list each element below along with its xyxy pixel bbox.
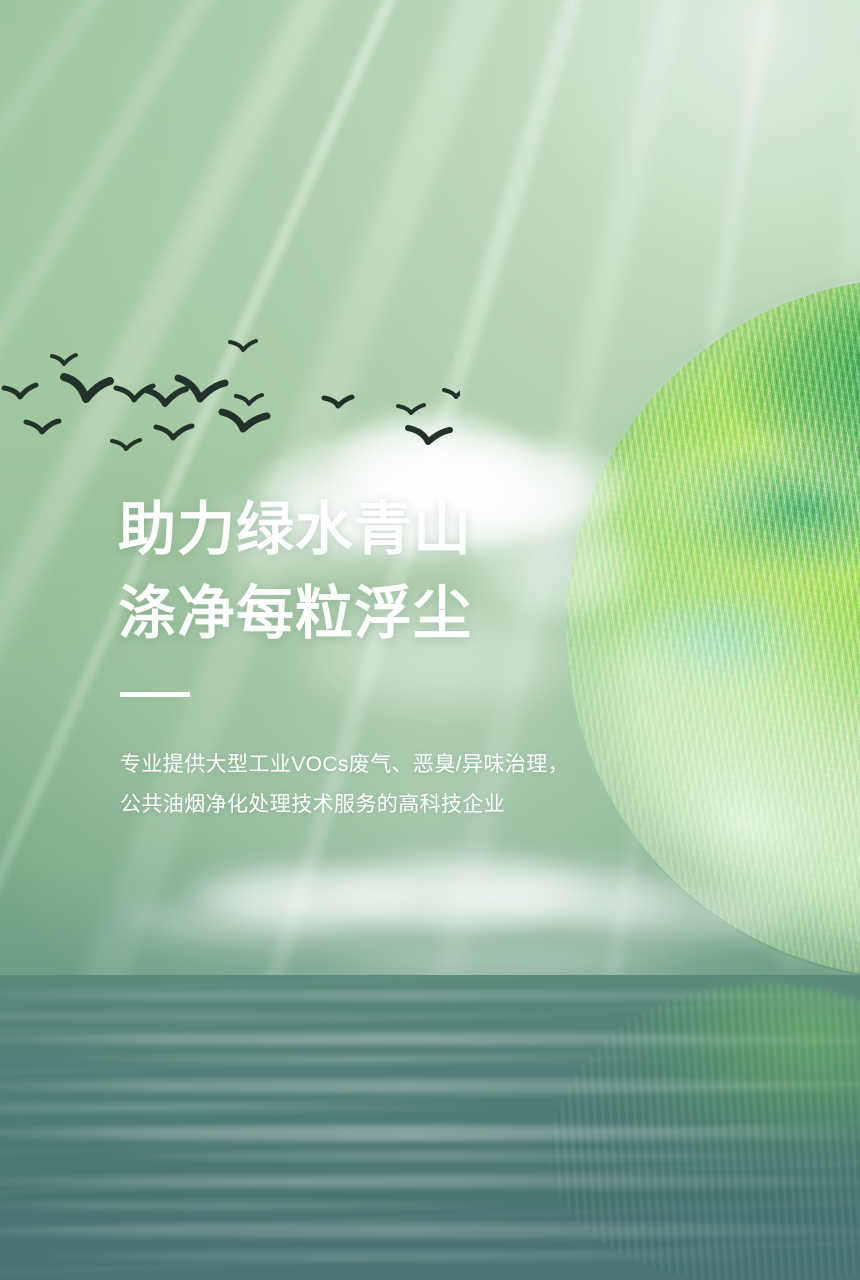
water-streak-overlay	[0, 975, 860, 1280]
subtitle-line-2: 公共油烟净化处理技术服务的高科技企业	[120, 785, 678, 825]
page-title: 助力绿水青山 涤净每粒浮尘	[118, 488, 678, 656]
headline-divider	[120, 692, 190, 697]
subtitle: 专业提供大型工业VOCs废气、恶臭/异味治理， 公共油烟净化处理技术服务的高科技…	[120, 745, 678, 825]
headline-line-1: 助力绿水青山	[118, 488, 678, 572]
eco-banner-poster: 助力绿水青山 涤净每粒浮尘 专业提供大型工业VOCs废气、恶臭/异味治理， 公共…	[0, 0, 860, 1280]
subtitle-line-1: 专业提供大型工业VOCs废气、恶臭/异味治理，	[120, 745, 678, 785]
headline-block: 助力绿水青山 涤净每粒浮尘 专业提供大型工业VOCs废气、恶臭/异味治理， 公共…	[118, 488, 678, 825]
headline-line-2: 涤净每粒浮尘	[118, 572, 678, 656]
water-surface-icon	[0, 975, 860, 1280]
